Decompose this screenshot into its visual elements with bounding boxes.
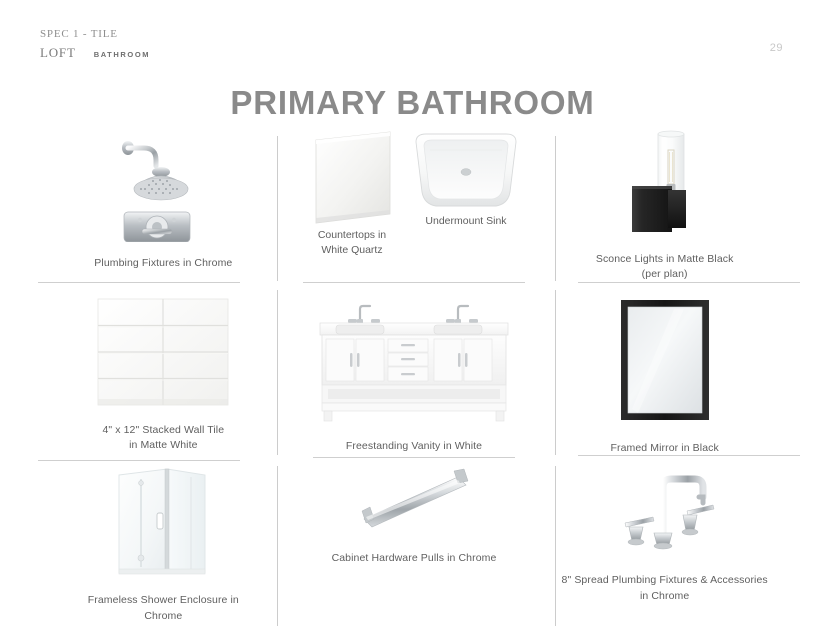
- product-cell-sconce-lights[interactable]: Sconce Lights in Matte Black (per plan): [539, 128, 790, 295]
- stacked-wall-tile-image: [94, 295, 232, 409]
- project-name: LOFT: [40, 45, 76, 61]
- framed-mirror-image: [612, 295, 718, 425]
- document-header: SPEC 1 - TILE LOFT BATHROOM: [40, 28, 150, 61]
- product-caption: Framed Mirror in Black: [610, 441, 718, 456]
- product-cell-cabinet-pulls[interactable]: Cabinet Hardware Pulls in Chrome: [289, 461, 540, 628]
- room-name: BATHROOM: [94, 50, 150, 59]
- product-caption: Frameless Shower Enclosure in Chrome: [88, 593, 239, 623]
- product-caption: 4" x 12" Stacked Wall Tile in Matte Whit…: [102, 423, 224, 453]
- spec-label: SPEC 1 - TILE: [40, 28, 150, 42]
- product-caption: Freestanding Vanity in White: [346, 439, 482, 454]
- product-cell-plumbing-fixtures[interactable]: Plumbing Fixtures in Chrome: [38, 128, 289, 295]
- header-subrow: LOFT BATHROOM: [40, 45, 150, 61]
- frameless-shower-enclosure-image: [105, 461, 221, 581]
- countertop-sink-split: Countertops in White Quartz: [295, 128, 534, 258]
- page-number: 29: [770, 42, 783, 54]
- white-quartz-slab-image: [306, 128, 398, 228]
- product-cell-shower-enclosure[interactable]: Frameless Shower Enclosure in Chrome: [38, 461, 289, 628]
- product-caption: Undermount Sink: [425, 214, 506, 229]
- undermount-sink-image: [410, 128, 522, 214]
- widespread-faucet-image: [603, 461, 727, 559]
- product-cell-wall-tile[interactable]: 4" x 12" Stacked Wall Tile in Matte Whit…: [38, 295, 289, 462]
- shower-head-and-valve-image: [104, 132, 222, 242]
- cabinet-pull-bar-image: [348, 461, 480, 535]
- product-cell-spread-faucet[interactable]: 8" Spread Plumbing Fixtures & Accessorie…: [539, 461, 790, 628]
- product-subcell-countertops[interactable]: Countertops in White Quartz: [306, 128, 398, 258]
- product-caption: Sconce Lights in Matte Black (per plan): [596, 252, 734, 282]
- product-caption: 8" Spread Plumbing Fixtures & Accessorie…: [562, 573, 768, 603]
- product-grid: Plumbing Fixtures in Chrome: [38, 128, 790, 628]
- freestanding-vanity-image: [308, 295, 520, 427]
- spec-sheet-page: SPEC 1 - TILE LOFT BATHROOM 29 PRIMARY B…: [0, 0, 825, 638]
- product-subcell-sink[interactable]: Undermount Sink: [410, 128, 522, 229]
- product-cell-countertop-and-sink[interactable]: Countertops in White Quartz: [289, 128, 540, 295]
- product-cell-framed-mirror[interactable]: Framed Mirror in Black: [539, 295, 790, 462]
- product-cell-vanity[interactable]: Freestanding Vanity in White: [289, 295, 540, 462]
- wall-sconce-image: [622, 128, 708, 240]
- product-caption: Countertops in White Quartz: [318, 228, 386, 258]
- product-caption: Plumbing Fixtures in Chrome: [94, 256, 232, 271]
- page-title: PRIMARY BATHROOM: [0, 84, 825, 122]
- product-caption: Cabinet Hardware Pulls in Chrome: [332, 551, 497, 566]
